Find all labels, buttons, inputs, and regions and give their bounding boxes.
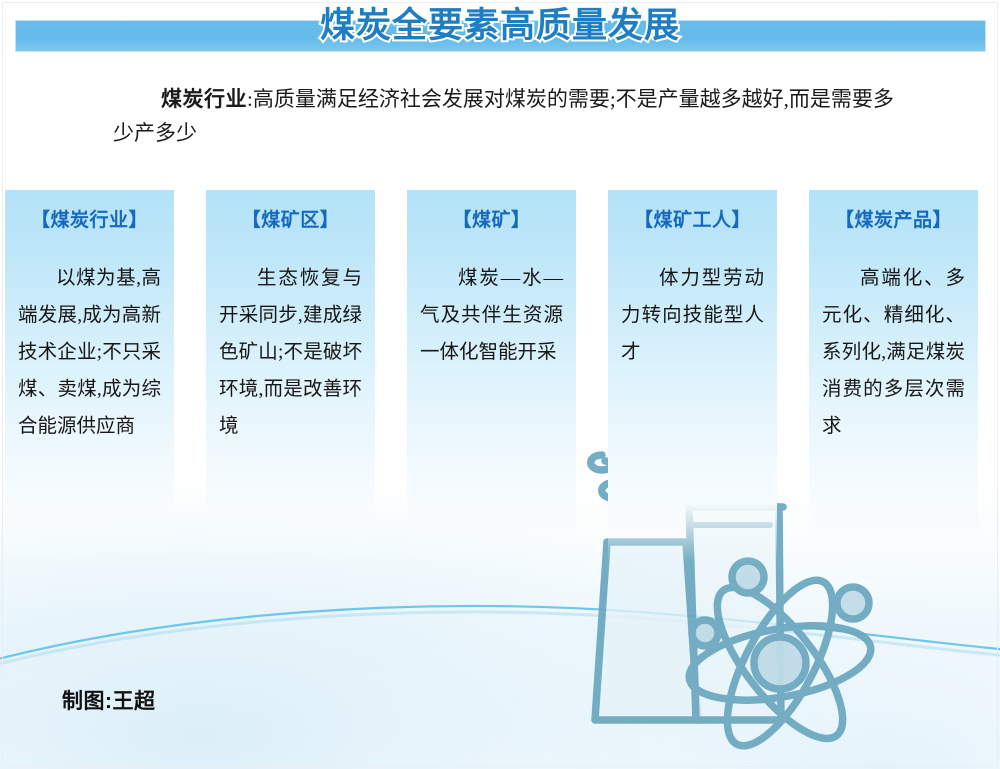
credit-label: 制图:王超: [62, 685, 156, 715]
card-coal-miner[interactable]: 【煤矿工人】 体力型劳动力转向技能型人才: [608, 190, 777, 562]
card-coal-product[interactable]: 【煤炭产品】 高端化、多元化、精细化、系列化,满足煤炭消费的多层次需求: [809, 190, 978, 562]
card-title: 【煤炭产品】: [822, 208, 965, 234]
card-body: 体力型劳动力转向技能型人才: [621, 260, 764, 371]
infographic-poster: 煤炭全要素高质量发展 煤炭行业:高质量满足经济社会发展对煤炭的需要;不是产量越多…: [0, 0, 1000, 769]
card-title: 【煤矿】: [420, 208, 563, 234]
card-title: 【煤矿区】: [219, 208, 362, 234]
card-coal-industry[interactable]: 【煤炭行业】 以煤为基,高端发展,成为高新技术企业;不只采煤、卖煤,成为综合能源…: [5, 190, 174, 562]
lede-paragraph: 煤炭行业:高质量满足经济社会发展对煤炭的需要;不是产量越多越好,而是需要多少产多…: [113, 82, 903, 150]
card-body: 以煤为基,高端发展,成为高新技术企业;不只采煤、卖煤,成为综合能源供应商: [18, 260, 161, 445]
card-body: 煤炭—水—气及共伴生资源一体化智能开采: [420, 260, 563, 371]
card-body: 生态恢复与开采同步,建成绿色矿山;不是破坏环境,而是改善环境: [219, 260, 362, 445]
atom-symbol: [683, 561, 876, 760]
card-title: 【煤矿工人】: [621, 208, 764, 234]
page-title: 煤炭全要素高质量发展: [0, 5, 1000, 47]
card-coal-mine[interactable]: 【煤矿】 煤炭—水—气及共伴生资源一体化智能开采: [407, 190, 576, 562]
lede-label: 煤炭行业: [161, 87, 247, 111]
cooling-tower-left: [595, 542, 698, 720]
card-title: 【煤炭行业】: [18, 208, 161, 234]
card-row: 【煤炭行业】 以煤为基,高端发展,成为高新技术企业;不只采煤、卖煤,成为综合能源…: [5, 190, 995, 562]
card-body: 高端化、多元化、精细化、系列化,满足煤炭消费的多层次需求: [822, 260, 965, 445]
card-mining-area[interactable]: 【煤矿区】 生态恢复与开采同步,建成绿色矿山;不是破坏环境,而是改善环境: [206, 190, 375, 562]
